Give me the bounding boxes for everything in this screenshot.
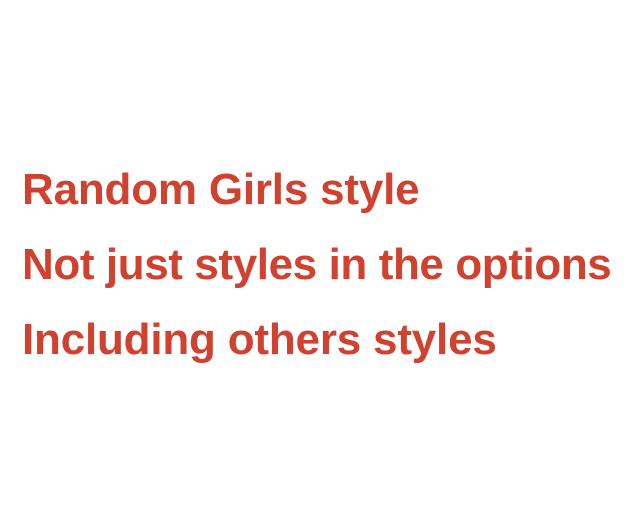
headline-line-3: Including others styles [22,302,632,377]
headline-text-block: Random Girls style Not just styles in th… [22,152,632,377]
headline-line-2: Not just styles in the options [22,227,632,302]
headline-line-1: Random Girls style [22,152,632,227]
poster-canvas: Random Girls style Not just styles in th… [0,0,640,516]
